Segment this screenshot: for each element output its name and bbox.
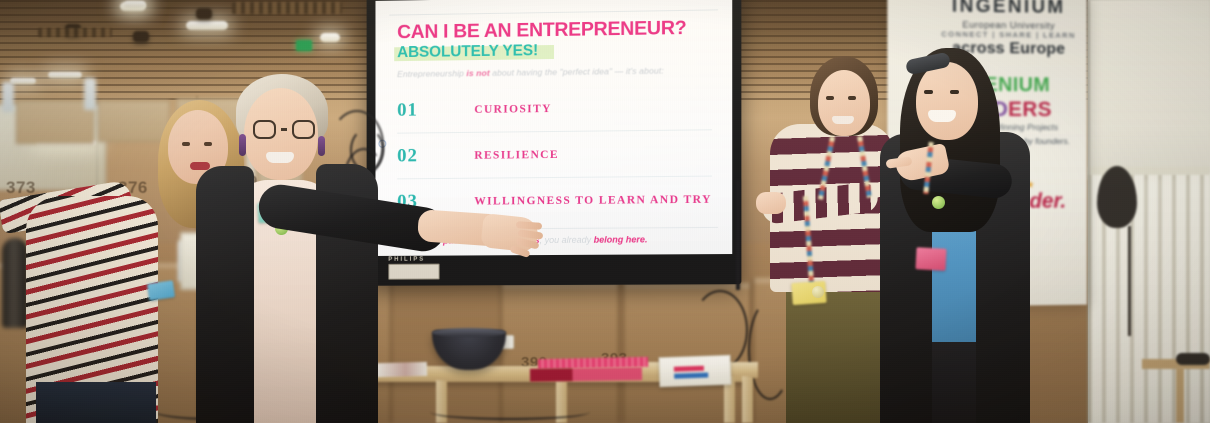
person3-face: [818, 70, 870, 136]
person3-eye: [826, 96, 834, 100]
slide-subtitle-wrap: ABSOLUTELY YES!: [397, 43, 538, 63]
ceiling-light: [124, 1, 146, 8]
person4-face: [916, 62, 978, 140]
storage-box: [98, 100, 170, 142]
tent-card-blue-text: [674, 373, 708, 379]
ceiling-vent: [38, 28, 112, 37]
table-leg: [742, 376, 753, 423]
person4-smile: [928, 110, 956, 122]
banner-wordmark: INGENIUM European University: [938, 0, 1079, 32]
person3-smile: [832, 116, 854, 124]
floor-cable: [430, 404, 590, 420]
slide-lead-line: Entrepreneurship is not about having the…: [397, 65, 712, 79]
tent-card: [658, 355, 731, 387]
glasses-bridge: [281, 128, 287, 131]
footer-mid-text: , you already: [540, 235, 594, 245]
bullet-number: 02: [397, 145, 474, 168]
person2-earring: [318, 136, 325, 156]
display-brand-label: PHILIPS: [388, 257, 425, 263]
ceiling-light: [320, 33, 340, 42]
person4-eye: [924, 90, 933, 94]
footer-bold-2: belong here.: [594, 234, 648, 244]
lead-in-text: Entrepreneurship: [397, 69, 466, 80]
pole: [1128, 226, 1131, 336]
gas-cylinder: [2, 238, 28, 328]
person3-hand: [756, 192, 786, 214]
person2-glasses: [253, 120, 315, 139]
ceiling-light: [10, 78, 36, 84]
person1-eye: [182, 142, 190, 146]
banner-values-text: CONNECT | SHARE | LEARN: [938, 29, 1079, 39]
far-object: [1176, 353, 1210, 365]
tent-card-pink-text: [674, 366, 704, 372]
bullet-text: WILLINGNESS TO LEARN AND TRY: [474, 194, 712, 208]
display-spec-sticker: [388, 264, 439, 280]
bullet-text: RESILIENCE: [474, 149, 559, 162]
slide-bullet-row: 01 CURIOSITY: [397, 84, 712, 134]
lead-rest-text: about having the "perfect idea" — it's a…: [490, 66, 664, 78]
photo-scene: 373 376 379 382 390 393 INGENIUM Europea…: [0, 0, 1210, 423]
bowl-rim: [432, 328, 506, 337]
person4-pin: [932, 196, 945, 209]
bullet-text: CURIOSITY: [474, 103, 551, 116]
display-stand-post: [736, 180, 740, 290]
person4-eye: [950, 90, 959, 94]
person3-badge-seal: [812, 286, 824, 298]
ceiling-spotlight: [133, 31, 149, 42]
slide-subtitle: ABSOLUTELY YES!: [397, 43, 538, 63]
person4-badge: [915, 247, 946, 271]
ceiling-light: [186, 21, 228, 30]
pink-flyer: [530, 367, 642, 382]
slide-title: CAN I BE AN ENTREPRENEUR?: [397, 18, 712, 43]
person1-legs: [36, 382, 156, 423]
bullet-number: 01: [397, 99, 474, 122]
glasses-lens-right: [292, 120, 315, 139]
person1-eye: [204, 142, 212, 146]
person2-jacket-left: [196, 166, 254, 423]
far-table-leg: [1176, 367, 1184, 423]
person2-earring: [239, 134, 246, 156]
lead-bold-text: is not: [466, 68, 489, 78]
person2-smile: [266, 152, 294, 163]
ceiling-light: [48, 72, 82, 78]
exit-sign-icon: [296, 40, 312, 51]
bottle: [84, 78, 96, 110]
window-glow: [1088, 0, 1210, 180]
hub-ers-text: ERS: [1008, 98, 1052, 121]
banner-ingenium-text: INGENIUM: [938, 0, 1079, 19]
person1-badge: [147, 280, 175, 300]
ceiling-spotlight: [196, 8, 212, 19]
bottle: [2, 82, 14, 112]
glasses-lens-left: [253, 120, 276, 139]
ceiling-vent: [232, 2, 342, 14]
person3-trousers: [786, 286, 884, 423]
person3-eye: [848, 96, 856, 100]
slide-bullet-list: 01 CURIOSITY 02 RESILIENCE 03 WILLINGNES…: [397, 84, 712, 225]
storage-box: [16, 100, 94, 144]
slide-bullet-row: 02 RESILIENCE: [397, 131, 712, 180]
wall-edge: [1087, 0, 1090, 423]
